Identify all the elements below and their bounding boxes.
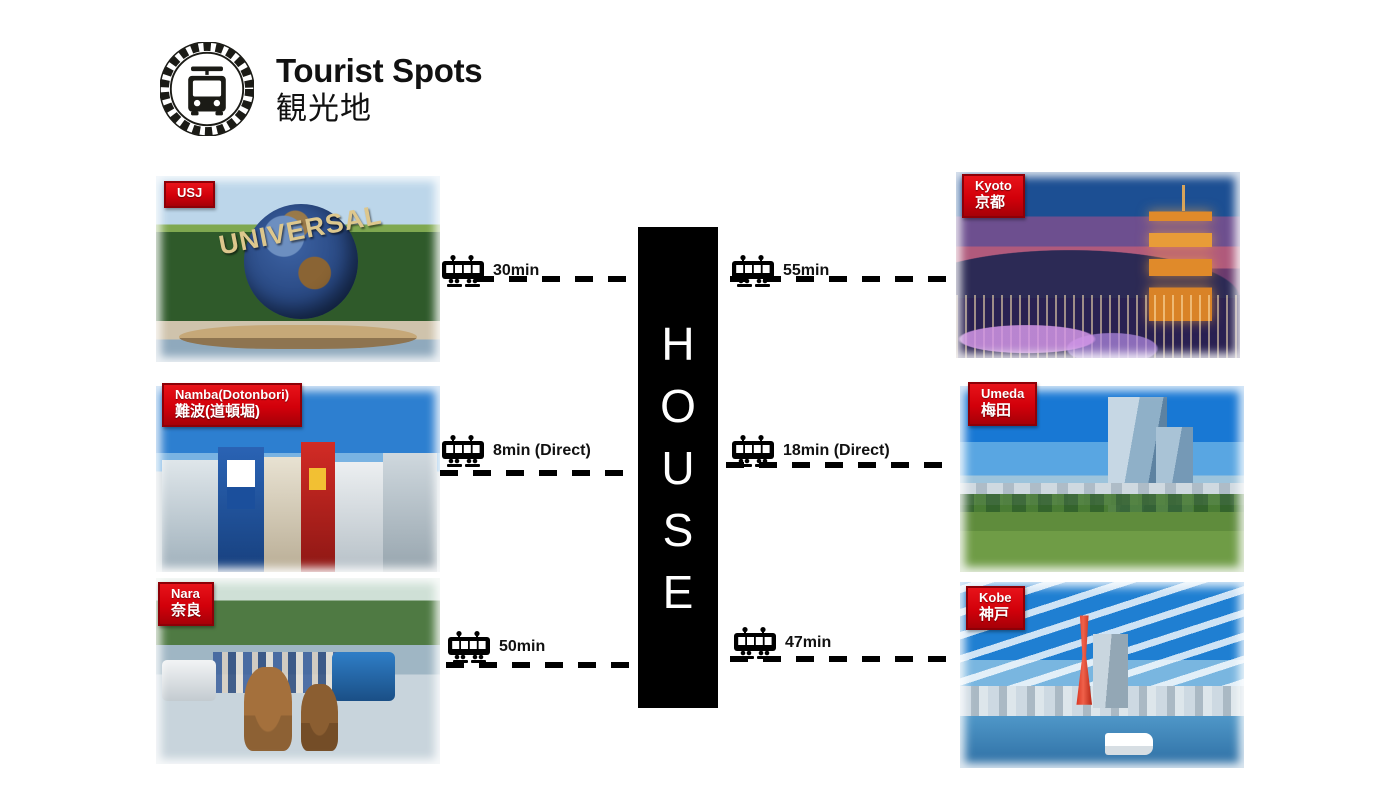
nara-deer-fawn: [301, 684, 338, 751]
kobe-harbor-water: [960, 716, 1244, 768]
namba-building: [264, 457, 301, 572]
spot-badge-nara: Nara 奈良: [158, 582, 214, 626]
route-time-umeda: 18min (Direct): [783, 442, 890, 460]
namba-sign: [309, 468, 326, 490]
spot-card-kobe[interactable]: Kobe 神戸: [960, 582, 1244, 768]
spot-badge-kobe: Kobe 神戸: [966, 586, 1025, 630]
route-namba: 8min (Direct): [440, 428, 591, 474]
spot-badge-namba: Namba(Dotonbori) 難波(道頓堀): [162, 383, 302, 427]
house-letter: S: [663, 507, 694, 553]
train-icon: [730, 254, 776, 288]
spot-badge-label-ja: 神戸: [979, 606, 1012, 623]
tram-badge-icon: [160, 42, 254, 136]
spot-badge-label-ja: 梅田: [981, 402, 1024, 419]
house-center-bar: H O U S E: [638, 227, 718, 708]
namba-building: [335, 462, 383, 572]
namba-glico-sign: [227, 460, 255, 508]
kobe-hotel-building: [1093, 634, 1127, 708]
train-icon: [730, 434, 776, 468]
route-time-nara: 50min: [499, 638, 545, 656]
train-icon: [446, 630, 492, 664]
house-letter: H: [661, 321, 694, 367]
route-time-usj: 30min: [493, 262, 539, 280]
nara-car: [332, 652, 394, 700]
spot-card-kyoto[interactable]: Kyoto 京都: [956, 172, 1240, 358]
train-icon: [732, 626, 778, 660]
page-title-japanese: 観光地: [276, 93, 482, 124]
train-icon: [440, 254, 486, 288]
spot-badge-usj: USJ: [164, 181, 215, 208]
spot-badge-label-en: Kyoto: [975, 179, 1012, 194]
spot-badge-label-en: USJ: [177, 186, 202, 201]
kyoto-city-lights: [956, 295, 1240, 358]
house-letter: E: [663, 569, 694, 615]
usj-base-shape: [179, 325, 418, 349]
page-header: Tourist Spots 観光地: [160, 42, 482, 136]
spot-badge-kyoto: Kyoto 京都: [962, 174, 1025, 218]
spot-badge-label-en: Kobe: [979, 591, 1012, 606]
spot-card-nara[interactable]: Nara 奈良: [156, 578, 440, 764]
route-nara: 50min: [446, 624, 545, 670]
umeda-treeline: [960, 494, 1244, 513]
route-time-kobe: 47min: [785, 634, 831, 652]
spot-badge-label-en: Namba(Dotonbori): [175, 388, 289, 403]
spot-badge-label-ja: 京都: [975, 194, 1012, 211]
house-letter: U: [661, 445, 694, 491]
spot-card-umeda[interactable]: Umeda 梅田: [960, 386, 1244, 572]
route-time-kyoto: 55min: [783, 262, 829, 280]
spot-card-usj[interactable]: UNIVERSAL USJ: [156, 176, 440, 362]
kobe-boat: [1105, 733, 1153, 755]
route-umeda: 18min (Direct): [730, 428, 890, 474]
route-usj: 30min: [440, 248, 539, 294]
spot-badge-label-ja: 難波(道頓堀): [175, 403, 289, 420]
spot-badge-label-en: Umeda: [981, 387, 1024, 402]
page-title: Tourist Spots: [276, 54, 482, 87]
train-icon: [440, 434, 486, 468]
route-kobe: 47min: [732, 620, 831, 666]
nara-car: [162, 660, 216, 701]
namba-building: [301, 442, 335, 572]
route-kyoto: 55min: [730, 248, 829, 294]
spot-badge-label-en: Nara: [171, 587, 201, 602]
spot-badge-label-ja: 奈良: [171, 602, 201, 619]
spot-badge-umeda: Umeda 梅田: [968, 382, 1037, 426]
house-letter: O: [660, 383, 696, 429]
route-time-namba: 8min (Direct): [493, 442, 591, 460]
namba-building: [162, 460, 219, 572]
nara-deer: [244, 667, 292, 751]
spot-card-namba[interactable]: Namba(Dotonbori) 難波(道頓堀): [156, 386, 440, 572]
namba-building: [383, 453, 437, 572]
